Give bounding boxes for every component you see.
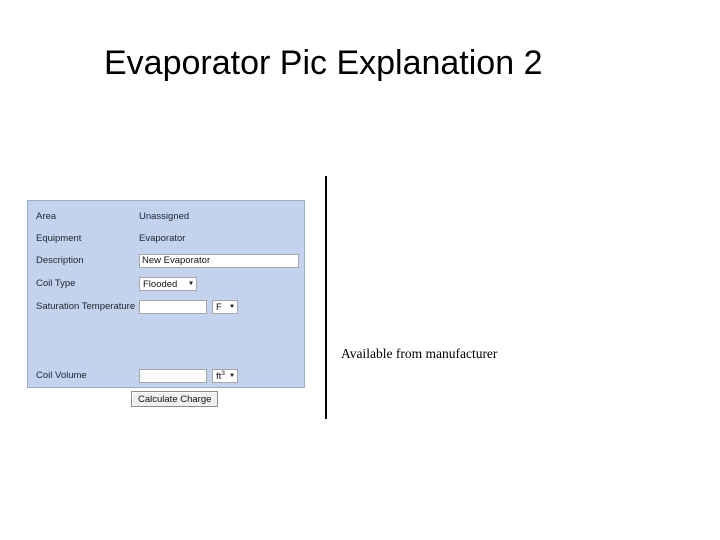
form-row-saturation-temperature: Saturation Temperature F ▼ [36, 296, 304, 318]
coil-volume-input[interactable] [139, 369, 207, 383]
saturation-temperature-input[interactable] [139, 300, 207, 314]
chevron-down-icon: ▼ [229, 373, 236, 379]
vertical-divider [325, 176, 327, 419]
form-row-area: Area Unassigned [36, 206, 304, 227]
chevron-down-icon: ▼ [229, 304, 236, 310]
saturation-temperature-unit-select[interactable]: F ▼ [212, 300, 238, 314]
coil-volume-unit-select[interactable]: ft3 ▼ [212, 369, 238, 383]
coil-type-selected-value: Flooded [143, 279, 177, 290]
coil-type-select[interactable]: Flooded ▼ [139, 277, 197, 291]
form-spacer [36, 319, 304, 365]
annotation-text: Available from manufacturer [341, 346, 497, 362]
label-equipment: Equipment [36, 233, 139, 245]
page-title: Evaporator Pic Explanation 2 [104, 44, 542, 83]
value-equipment: Evaporator [139, 233, 185, 245]
form-row-coil-volume: Coil Volume ft3 ▼ [36, 365, 304, 387]
label-area: Area [36, 211, 139, 223]
coil-volume-unit-exponent: 3 [221, 369, 225, 376]
saturation-temperature-unit-value: F [216, 302, 222, 313]
form-row-equipment: Equipment Evaporator [36, 228, 304, 249]
calculate-charge-button[interactable]: Calculate Charge [131, 391, 218, 407]
chevron-down-icon: ▼ [188, 281, 195, 287]
label-saturation-temperature: Saturation Temperature [36, 301, 139, 313]
evaporator-form-panel: Area Unassigned Equipment Evaporator Des… [27, 200, 305, 388]
coil-volume-unit-value: ft3 [216, 371, 225, 382]
label-description: Description [36, 255, 139, 267]
form-row-coil-type: Coil Type Flooded ▼ [36, 273, 304, 295]
form-rows: Area Unassigned Equipment Evaporator Des… [36, 206, 304, 407]
value-area: Unassigned [139, 211, 189, 223]
button-row: Calculate Charge [36, 391, 304, 407]
form-row-description: Description New Evaporator [36, 250, 304, 272]
label-coil-type: Coil Type [36, 278, 139, 290]
description-input[interactable]: New Evaporator [139, 254, 299, 268]
label-coil-volume: Coil Volume [36, 370, 139, 382]
